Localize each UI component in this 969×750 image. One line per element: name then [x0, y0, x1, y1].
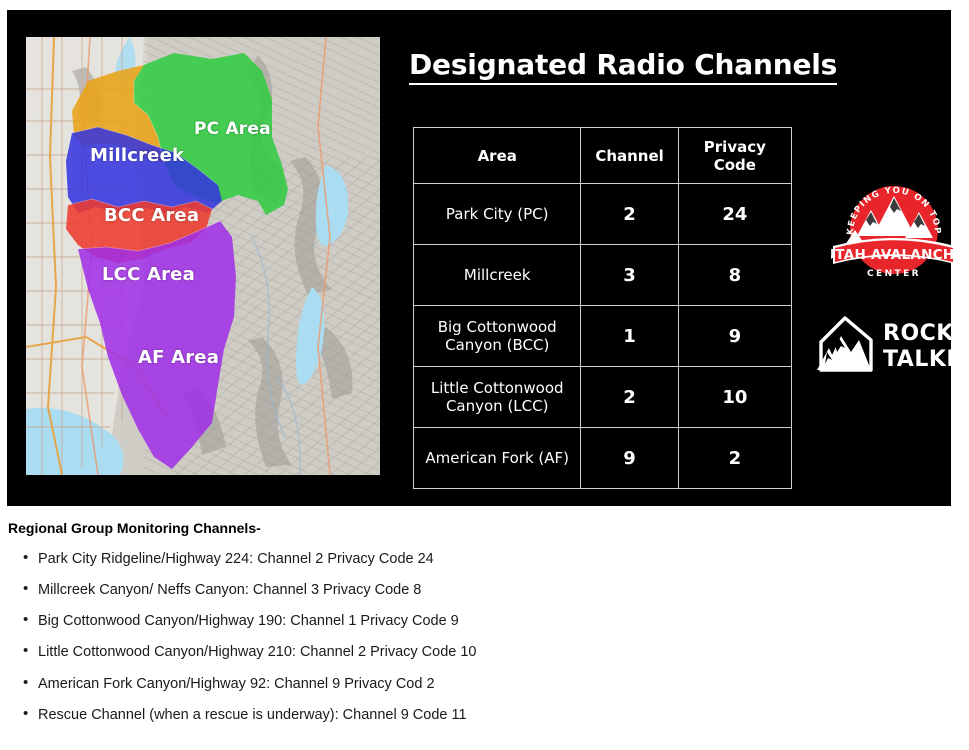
cell-channel: 2	[581, 184, 678, 245]
table-row: American Fork (AF) 9 2	[414, 428, 792, 489]
map-graphic	[26, 37, 380, 475]
column-header-privacy: Privacy Code	[678, 128, 791, 184]
cell-area: American Fork (AF)	[414, 428, 581, 489]
cell-privacy: 10	[678, 367, 791, 428]
column-header-channel: Channel	[581, 128, 678, 184]
notes-list: Park City Ridgeline/Highway 224: Channel…	[0, 550, 969, 724]
radio-channel-table: Area Channel Privacy Code Park City (PC)…	[413, 127, 792, 489]
cell-channel: 3	[581, 245, 678, 306]
list-item: Park City Ridgeline/Highway 224: Channel…	[38, 550, 969, 568]
table-row: Park City (PC) 2 24	[414, 184, 792, 245]
column-header-area: Area	[414, 128, 581, 184]
rocky-talkie-line1: ROCKY	[883, 321, 955, 346]
table-row: Millcreek 3 8	[414, 245, 792, 306]
cell-area: Little Cottonwood Canyon (LCC)	[414, 367, 581, 428]
rocky-talkie-logo-icon: ROCKY TALKIE	[815, 308, 955, 378]
page-root: PC Area Millcreek BCC Area LCC Area AF A…	[0, 0, 969, 750]
cell-area: Millcreek	[414, 245, 581, 306]
cell-privacy: 2	[678, 428, 791, 489]
regional-monitoring-notes: Regional Group Monitoring Channels- Park…	[0, 520, 969, 737]
cell-channel: 2	[581, 367, 678, 428]
list-item: Big Cottonwood Canyon/Highway 190: Chann…	[38, 612, 969, 630]
table-header-row: Area Channel Privacy Code	[414, 128, 792, 184]
table-row: Big Cottonwood Canyon (BCC) 1 9	[414, 306, 792, 367]
table-row: Little Cottonwood Canyon (LCC) 2 10	[414, 367, 792, 428]
poster-title: Designated Radio Channels	[409, 50, 837, 85]
cell-channel: 1	[581, 306, 678, 367]
list-item: Millcreek Canyon/ Neffs Canyon: Channel …	[38, 581, 969, 599]
list-item: Little Cottonwood Canyon/Highway 210: Ch…	[38, 643, 969, 661]
cell-channel: 9	[581, 428, 678, 489]
utah-avalanche-center-logo-icon: KEEPING YOU ON TOP UTAH AVALANCHE CENTER	[831, 168, 957, 286]
zone-map[interactable]: PC Area Millcreek BCC Area LCC Area AF A…	[26, 37, 380, 475]
radio-channel-poster: PC Area Millcreek BCC Area LCC Area AF A…	[7, 10, 951, 506]
list-item: Rescue Channel (when a rescue is underwa…	[38, 706, 969, 724]
cell-area: Park City (PC)	[414, 184, 581, 245]
list-item: American Fork Canyon/Highway 92: Channel…	[38, 675, 969, 693]
uac-subtitle: CENTER	[867, 269, 921, 279]
uac-banner-text: UTAH AVALANCHE	[831, 247, 957, 263]
notes-heading: Regional Group Monitoring Channels-	[8, 520, 969, 536]
cell-privacy: 24	[678, 184, 791, 245]
cell-privacy: 8	[678, 245, 791, 306]
rocky-talkie-line2: TALKIE	[883, 347, 955, 372]
cell-area: Big Cottonwood Canyon (BCC)	[414, 306, 581, 367]
cell-privacy: 9	[678, 306, 791, 367]
